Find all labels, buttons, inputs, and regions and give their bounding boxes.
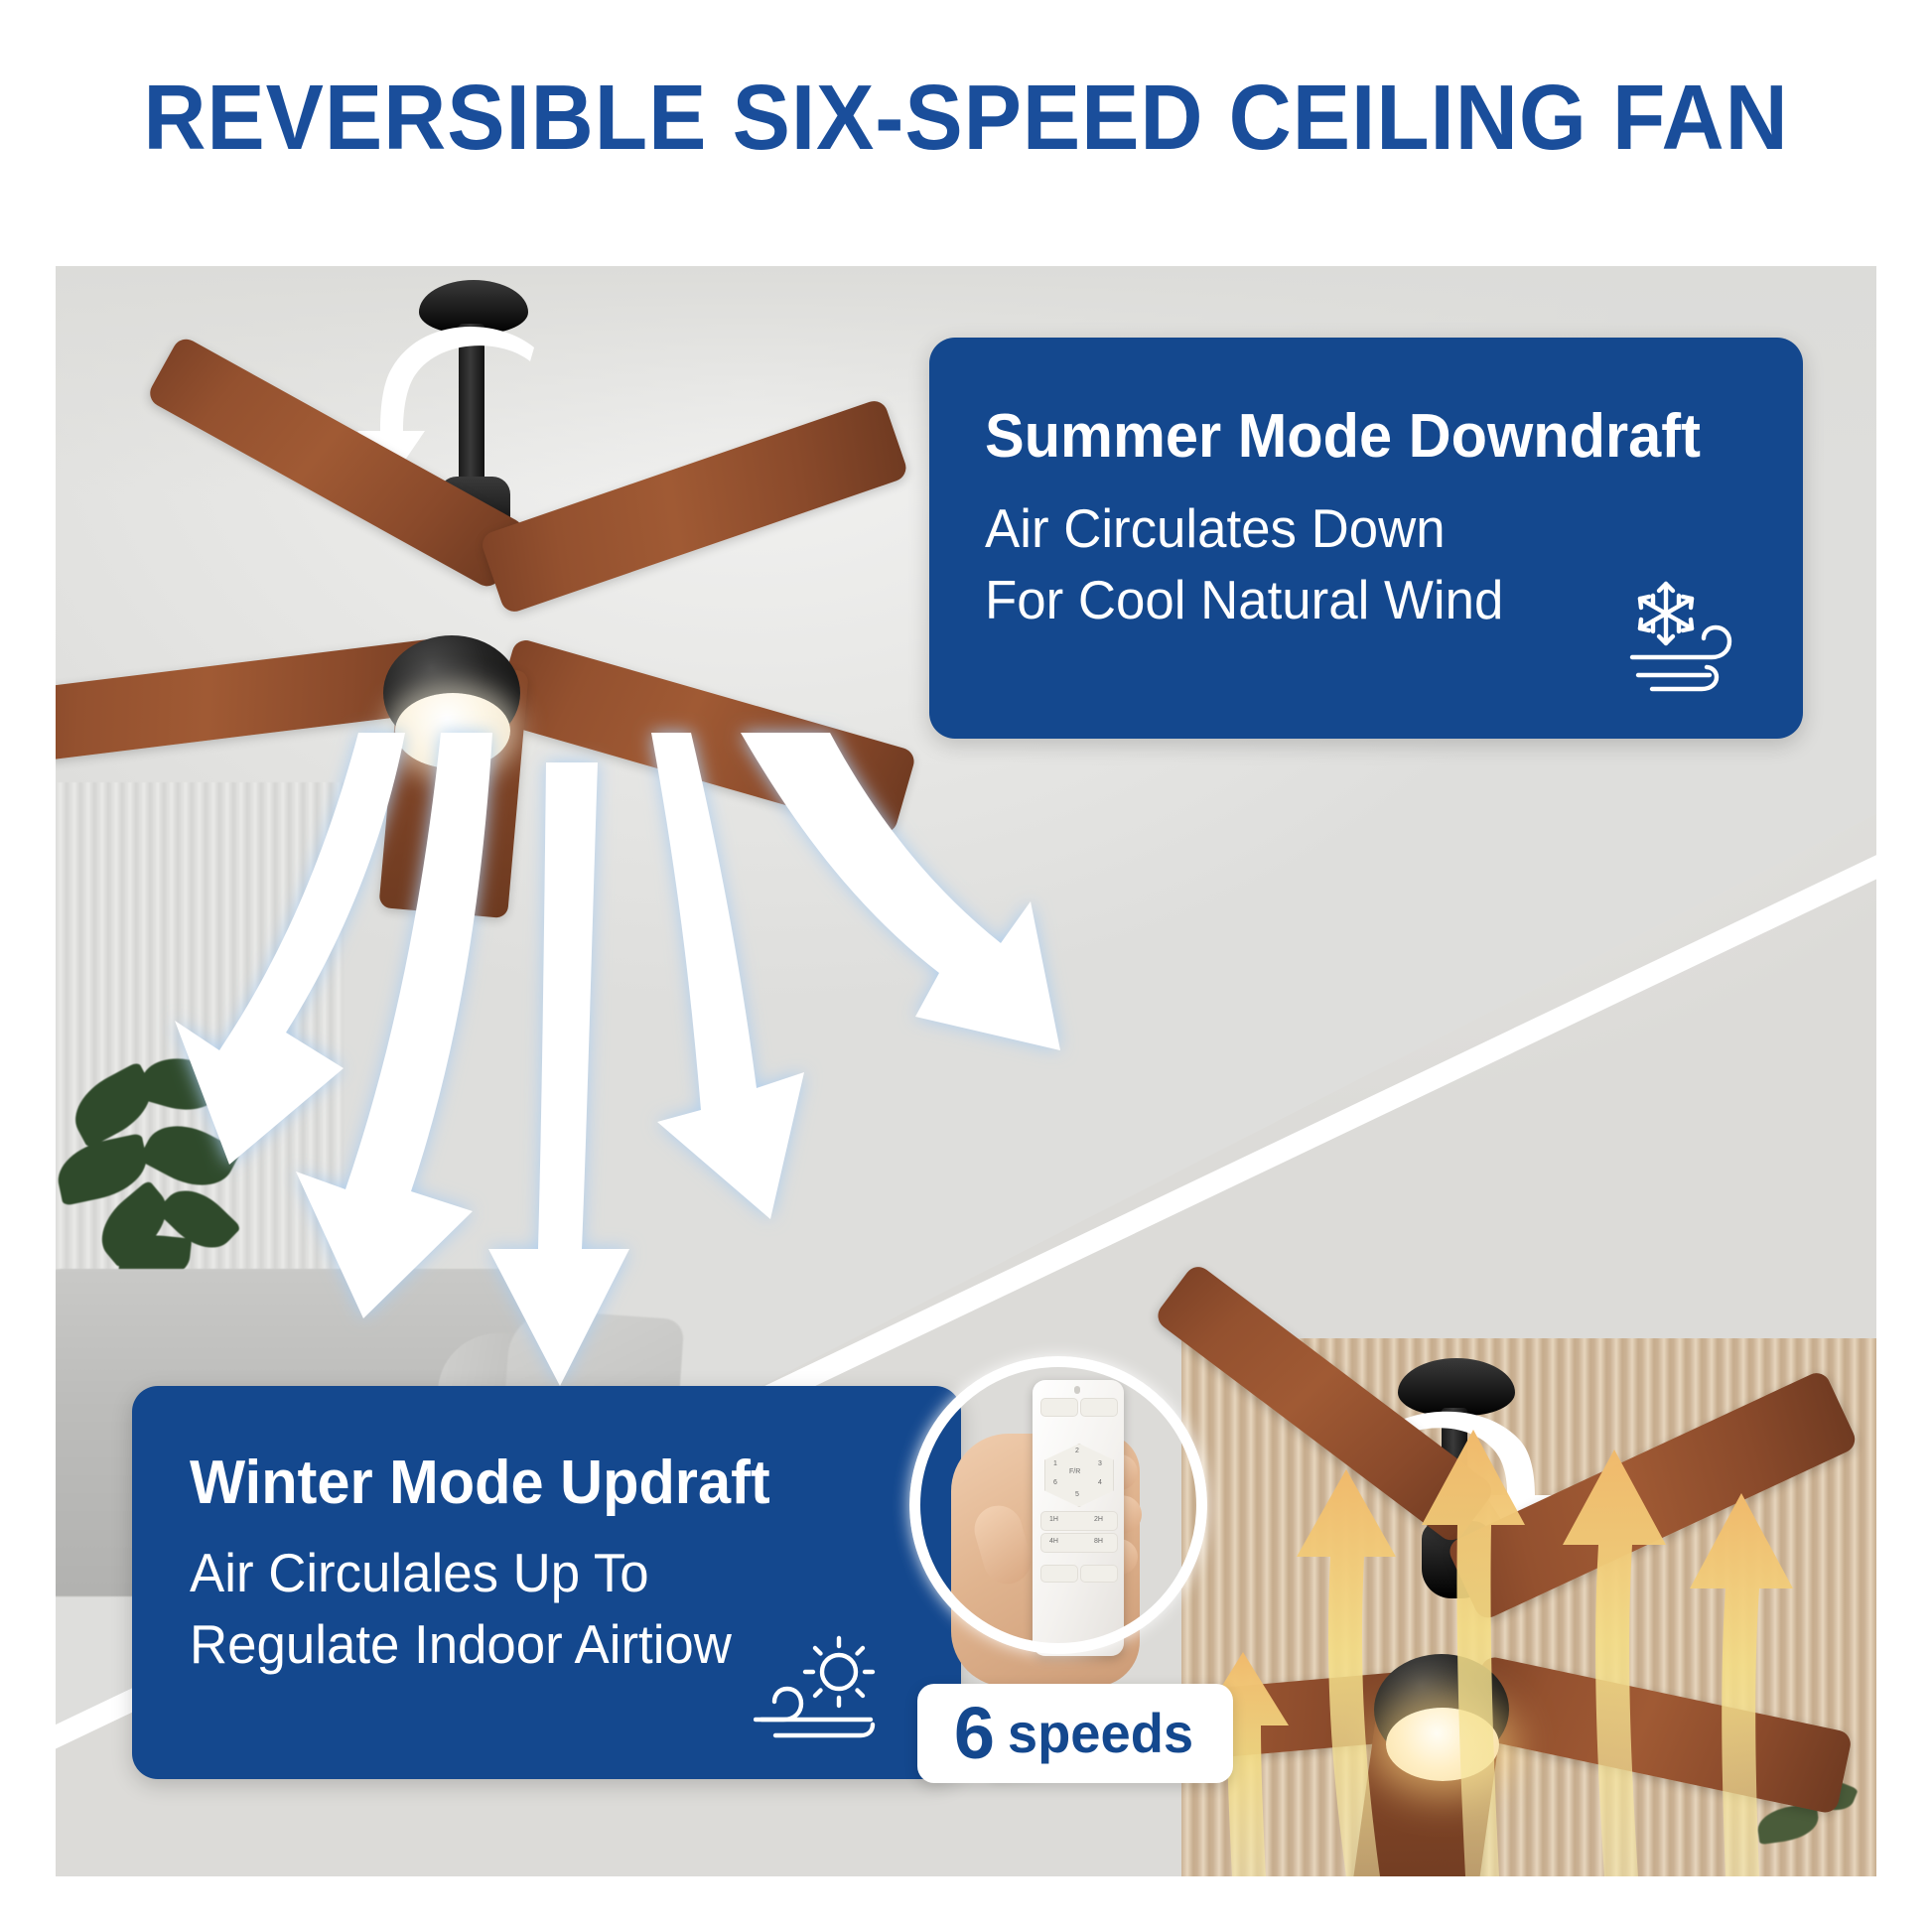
winter-callout-heading: Winter Mode Updraft xyxy=(190,1448,770,1518)
summer-mode-callout: Summer Mode Downdraft Air Circulates Dow… xyxy=(929,338,1803,739)
winter-callout-line-2: Regulate Indoor Airtiow xyxy=(190,1612,732,1676)
summer-callout-line-1: Air Circulates Down xyxy=(985,496,1446,560)
summer-callout-line-2: For Cool Natural Wind xyxy=(985,568,1503,631)
remote-control-inset: 2 1 3 F/R 6 4 5 1H 2H 4H 8H xyxy=(909,1356,1207,1654)
snowflake-wind-icon xyxy=(1624,576,1751,699)
winter-mode-callout: Winter Mode Updraft Air Circulales Up To… xyxy=(132,1386,961,1779)
sun-wind-icon xyxy=(754,1628,883,1747)
summer-callout-heading: Summer Mode Downdraft xyxy=(985,401,1701,472)
product-photo-canvas: Summer Mode Downdraft Air Circulates Dow… xyxy=(56,266,1876,1876)
page-title: REVERSIBLE SIX-SPEED CEILING FAN xyxy=(58,62,1873,173)
speeds-badge: 6 speeds xyxy=(917,1684,1233,1783)
speeds-badge-number: 6 xyxy=(954,1697,995,1770)
remote-highlight-ring xyxy=(909,1356,1207,1654)
winter-callout-line-1: Air Circulales Up To xyxy=(190,1541,649,1604)
speeds-badge-label: speeds xyxy=(1008,1706,1193,1761)
